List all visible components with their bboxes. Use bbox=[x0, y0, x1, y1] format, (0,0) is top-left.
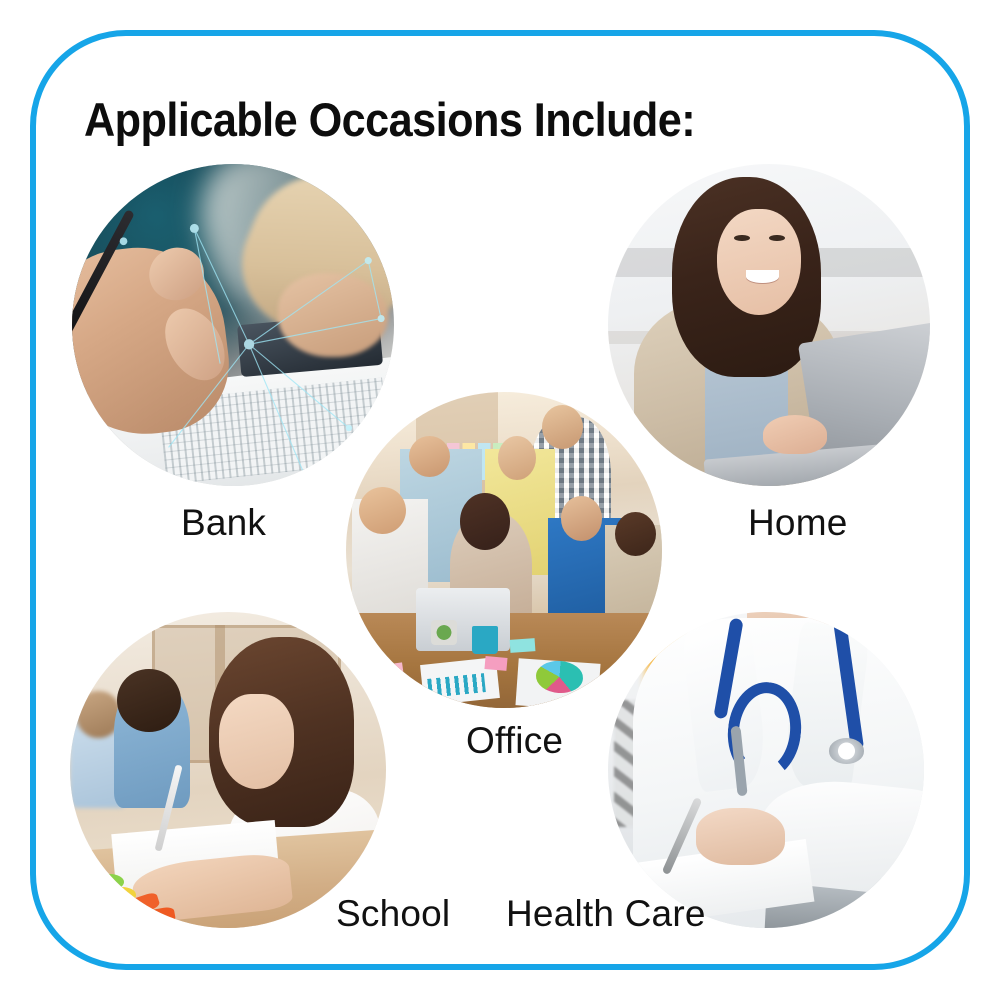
office-head-beige-top bbox=[615, 512, 656, 556]
occasion-label-health-care: Health Care bbox=[506, 893, 706, 935]
office-head-blue-sweater bbox=[561, 496, 602, 540]
health-care-stethoscope-chestpiece bbox=[829, 738, 864, 763]
health-care-writing-hand bbox=[696, 808, 784, 865]
office-plant bbox=[431, 620, 456, 645]
school-scene bbox=[70, 612, 386, 928]
office-head-plaid-shirt bbox=[542, 405, 583, 449]
occasion-label-bank: Bank bbox=[181, 502, 266, 544]
occasion-photo-health-care bbox=[608, 612, 924, 928]
home-typing-hand bbox=[763, 415, 827, 454]
office-head-white-shirt bbox=[359, 487, 406, 534]
health-care-scene bbox=[608, 612, 924, 928]
school-girl-face bbox=[219, 694, 295, 789]
home-face bbox=[717, 209, 801, 315]
occasion-label-home: Home bbox=[748, 502, 848, 544]
office-head-yellow-top bbox=[498, 436, 536, 480]
school-boy-head bbox=[117, 669, 180, 732]
occasion-photo-school bbox=[70, 612, 386, 928]
occasion-label-school: School bbox=[336, 893, 450, 935]
office-pen-cup bbox=[472, 626, 497, 654]
occasion-label-office: Office bbox=[466, 720, 563, 762]
office-sticky-note-3 bbox=[510, 638, 536, 652]
home-eye-left bbox=[734, 235, 750, 241]
promo-graphic: Applicable Occasions Include: bbox=[0, 0, 1000, 1000]
page-title: Applicable Occasions Include: bbox=[84, 92, 695, 147]
office-sticky-note-2 bbox=[485, 657, 508, 672]
home-smile bbox=[746, 270, 778, 283]
office-head-woman-center bbox=[460, 493, 511, 550]
